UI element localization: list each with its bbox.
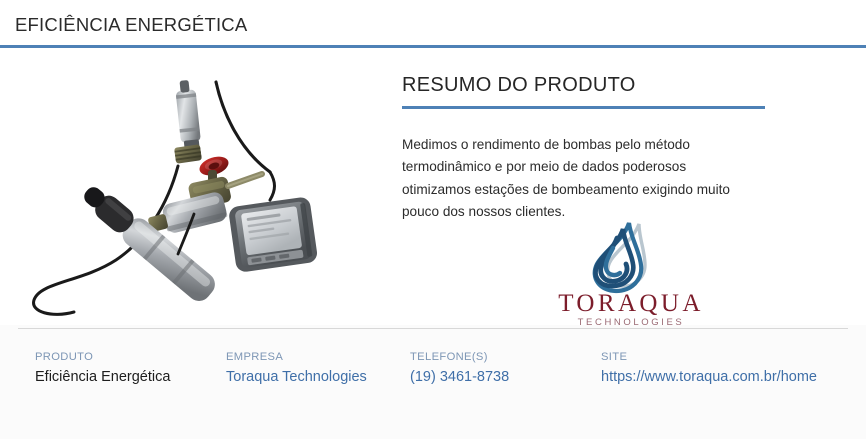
logo-wordmark: TORAQUA (531, 291, 731, 316)
footer-label-telefone: TELEFONE(S) (410, 351, 509, 363)
product-summary-page: EFICIÊNCIA ENERGÉTICA (0, 0, 866, 439)
footer-fields: PRODUTO Eficiência Energética EMPRESA To… (0, 351, 866, 411)
footer-value-produto: Eficiência Energética (35, 369, 170, 385)
footer-field-telefone: TELEFONE(S) (19) 3461-8738 (410, 351, 509, 385)
page-title: EFICIÊNCIA ENERGÉTICA (15, 14, 247, 36)
water-drop-icon (571, 220, 663, 295)
footer-label-site: SITE (601, 351, 817, 363)
header-divider (0, 45, 866, 48)
summary-divider (402, 106, 765, 109)
footer-divider (18, 328, 848, 329)
footer-label-empresa: EMPRESA (226, 351, 367, 363)
page-footer: PRODUTO Eficiência Energética EMPRESA To… (0, 325, 866, 439)
footer-label-produto: PRODUTO (35, 351, 170, 363)
summary-description: Medimos o rendimento de bombas pelo méto… (402, 134, 747, 224)
footer-field-empresa: EMPRESA Toraqua Technologies (226, 351, 367, 385)
footer-value-site[interactable]: https://www.toraqua.com.br/home (601, 369, 817, 385)
page-header: EFICIÊNCIA ENERGÉTICA (0, 0, 866, 50)
footer-value-telefone[interactable]: (19) 3461-8738 (410, 369, 509, 385)
page-body: RESUMO DO PRODUTO Medimos o rendimento d… (0, 50, 866, 325)
company-logo: TORAQUA TECHNOLOGIES (531, 220, 731, 325)
footer-field-site: SITE https://www.toraqua.com.br/home (601, 351, 817, 385)
footer-value-empresa[interactable]: Toraqua Technologies (226, 369, 367, 385)
summary-title: RESUMO DO PRODUTO (402, 74, 802, 97)
thermodynamic-probe-photo (18, 54, 388, 322)
footer-field-produto: PRODUTO Eficiência Energética (35, 351, 170, 385)
summary-section: RESUMO DO PRODUTO Medimos o rendimento d… (402, 74, 802, 224)
product-image (18, 54, 388, 322)
